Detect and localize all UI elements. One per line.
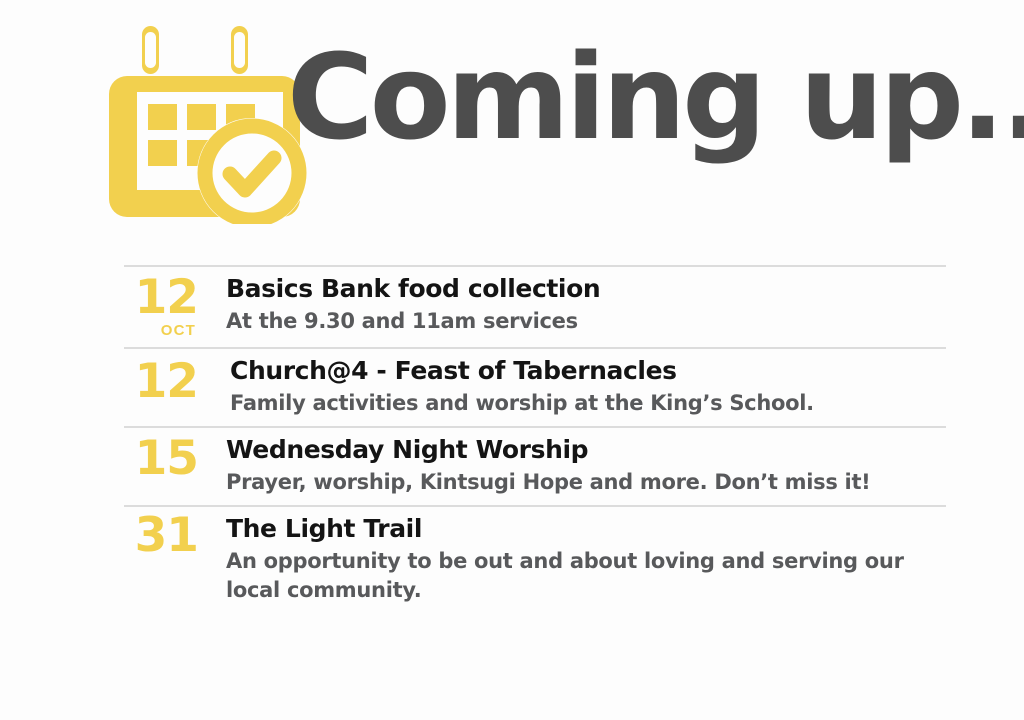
event-day: 15 xyxy=(124,436,198,482)
event-subtitle: Prayer, worship, Kintsugi Hope and more.… xyxy=(226,468,946,497)
event-title: Church@4 - Feast of Tabernacles xyxy=(230,355,946,387)
event-list-item[interactable]: 31 The Light Trail An opportunity to be … xyxy=(124,507,946,613)
event-list-item[interactable]: 12 OCT Basics Bank food collection At th… xyxy=(124,267,946,347)
event-list: 12 OCT Basics Bank food collection At th… xyxy=(124,265,946,613)
event-day: 12 xyxy=(124,275,198,321)
event-day: 12 xyxy=(124,359,198,405)
event-subtitle: At the 9.30 and 11am services xyxy=(226,307,946,336)
event-title: Wednesday Night Worship xyxy=(226,434,946,466)
event-date: 12 OCT xyxy=(124,273,198,339)
calendar-check-icon xyxy=(108,26,313,224)
event-text: Basics Bank food collection At the 9.30 … xyxy=(198,273,946,336)
event-subtitle: Family activities and worship at the Kin… xyxy=(230,389,946,418)
event-day: 31 xyxy=(124,513,198,559)
event-list-item[interactable]: 12 Church@4 - Feast of Tabernacles Famil… xyxy=(124,349,946,426)
coming-up-poster: Coming up... 12 OCT Basics Bank food col… xyxy=(0,0,1024,720)
event-list-item[interactable]: 15 Wednesday Night Worship Prayer, worsh… xyxy=(124,428,946,505)
event-date: 12 xyxy=(124,355,198,405)
page-title: Coming up... xyxy=(287,38,1024,156)
event-title: Basics Bank food collection xyxy=(226,273,946,305)
event-date: 15 xyxy=(124,434,198,482)
event-text: The Light Trail An opportunity to be out… xyxy=(198,513,946,605)
event-text: Wednesday Night Worship Prayer, worship,… xyxy=(198,434,946,497)
event-date: 31 xyxy=(124,513,198,559)
event-text: Church@4 - Feast of Tabernacles Family a… xyxy=(198,355,946,418)
poster-header: Coming up... xyxy=(0,0,1024,248)
event-title: The Light Trail xyxy=(226,513,946,545)
event-subtitle: An opportunity to be out and about lovin… xyxy=(226,547,946,605)
